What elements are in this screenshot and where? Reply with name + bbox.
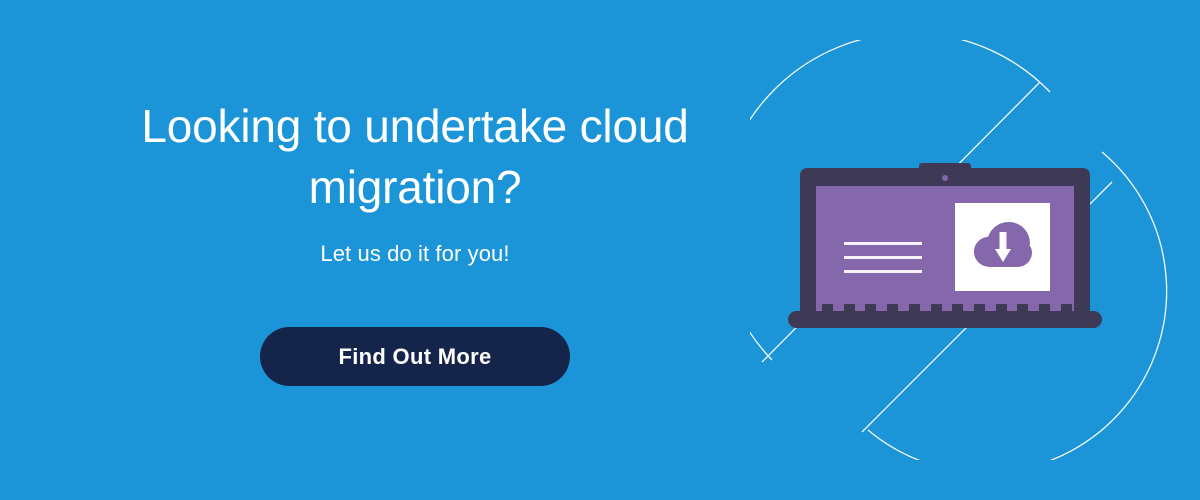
laptop-base [788,311,1102,328]
page-title: Looking to undertake cloud migration? [85,96,745,217]
cloud-download-card [955,203,1050,291]
screen-line [844,242,922,245]
banner-subtitle: Let us do it for you! [320,241,509,267]
webcam-icon [942,175,948,181]
cloud-download-icon [972,222,1034,272]
screen-line [844,270,922,273]
find-out-more-button[interactable]: Find Out More [260,327,570,386]
laptop-lid [800,168,1090,313]
laptop-screen [816,186,1074,313]
illustration [750,40,1200,460]
banner-content: Looking to undertake cloud migration? Le… [55,0,775,500]
screen-text-lines [844,242,922,273]
cloud-migration-cta-banner: Looking to undertake cloud migration? Le… [0,0,1200,500]
laptop-graphic [800,168,1090,328]
screen-line [844,256,922,259]
